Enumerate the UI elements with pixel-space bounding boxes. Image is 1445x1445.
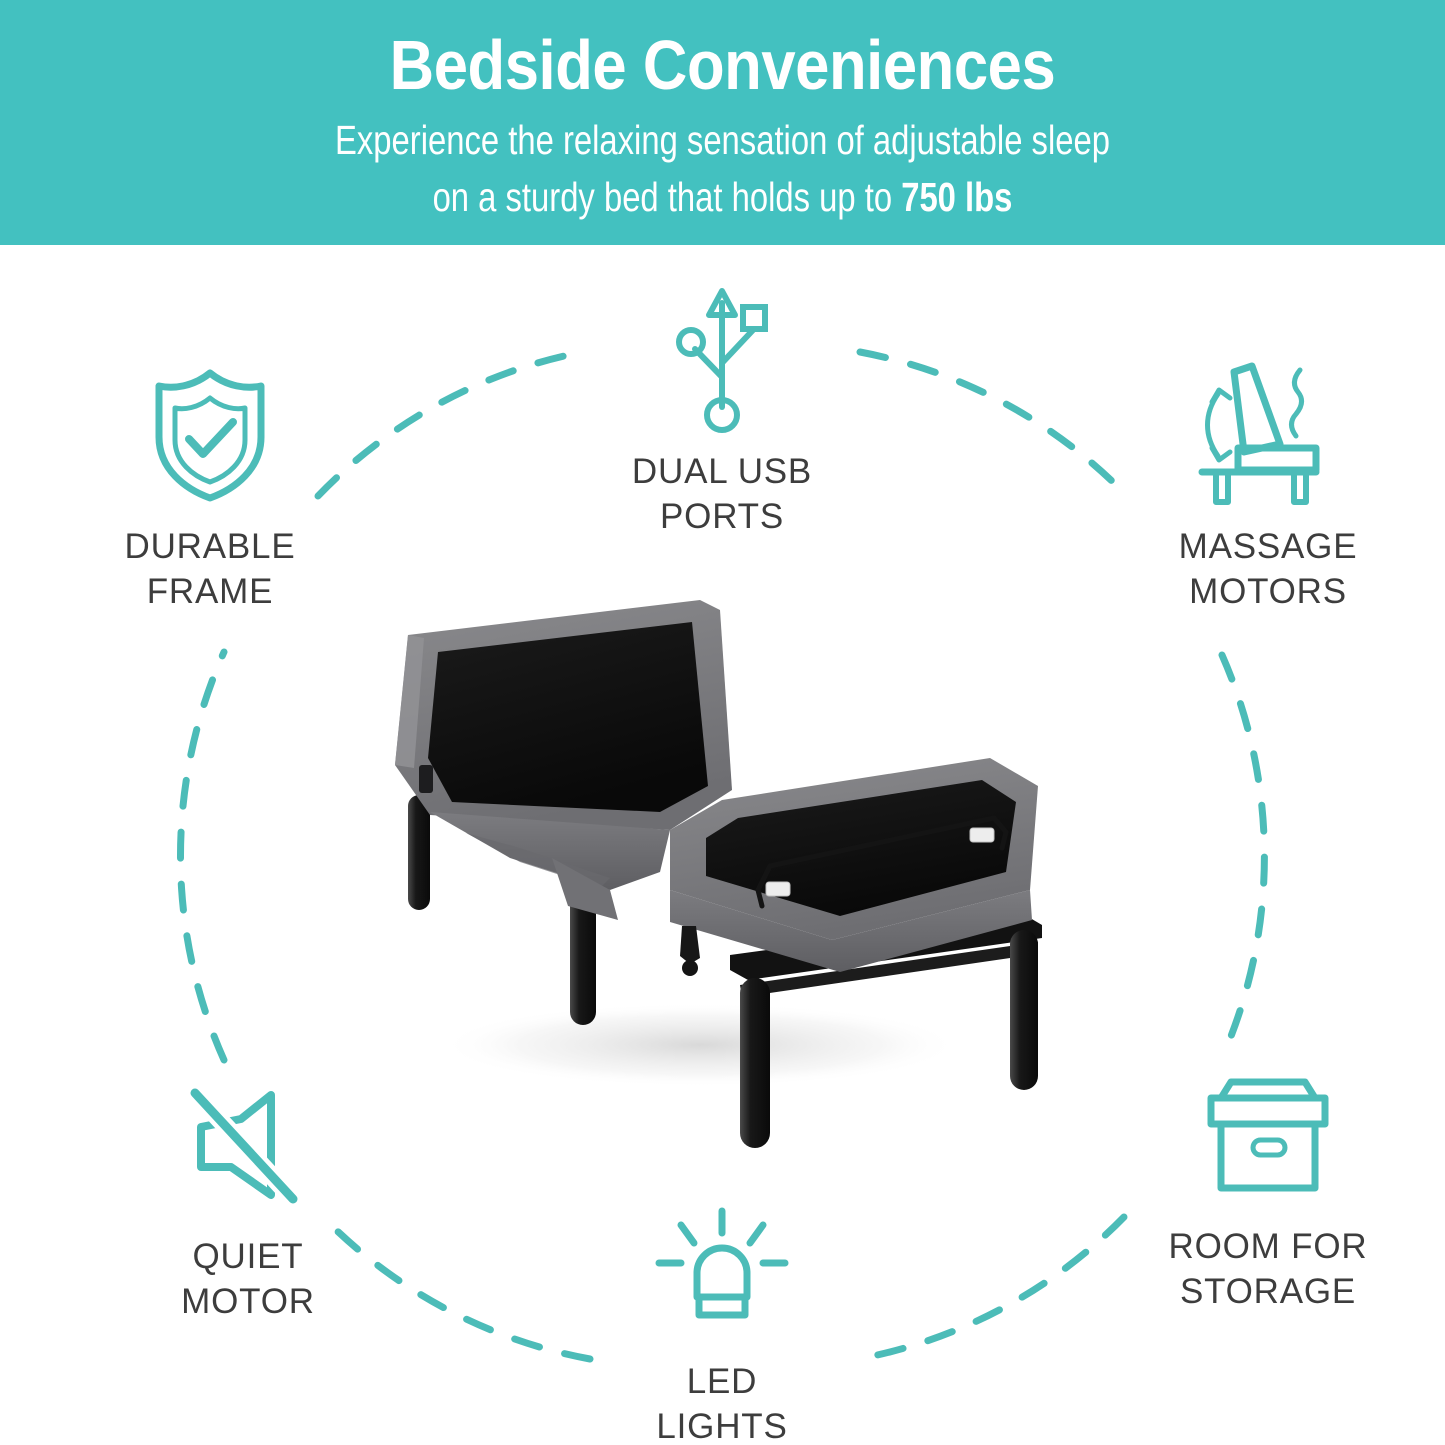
feature-room-for-storage[interactable]: ROOM FOR STORAGE (1118, 1060, 1418, 1314)
feature-label-massage-motors: MASSAGE MOTORS (1118, 524, 1418, 614)
feature-massage-motors[interactable]: MASSAGE MOTORS (1118, 360, 1418, 614)
bed-leg-rear-left (408, 795, 430, 910)
product-shadow (440, 1003, 960, 1087)
ring-arc-3 (1222, 655, 1264, 1058)
feature-dual-usb-ports[interactable]: DUAL USB PORTS (572, 285, 872, 539)
adjustable-bed-vibration-icon (1118, 360, 1418, 510)
subtitle-line-2-text: on a sturdy bed that holds up to (433, 174, 902, 220)
retainer-clip-right (970, 828, 994, 842)
feature-label-dual-usb-ports: DUAL USB PORTS (572, 449, 872, 539)
ring-arc-6 (180, 652, 224, 1060)
retainer-clip-left (766, 882, 790, 896)
shield-check-icon (60, 360, 360, 510)
feature-label-quiet-motor: QUIET MOTOR (98, 1234, 398, 1324)
product-image-adjustable-bed (370, 590, 1090, 1190)
storage-box-icon (1118, 1060, 1418, 1210)
subtitle-line-2: on a sturdy bed that holds up to 750 lbs (145, 169, 1301, 226)
feature-quiet-motor[interactable]: QUIET MOTOR (98, 1070, 398, 1324)
feature-label-durable-frame: DURABLE FRAME (60, 524, 360, 614)
header-subtitle: Experience the relaxing sensation of adj… (145, 112, 1301, 226)
feature-led-lights[interactable]: LED LIGHTS (572, 1195, 872, 1445)
muted-speaker-icon (98, 1070, 398, 1220)
bed-leg-front-left (740, 978, 770, 1148)
page-title: Bedside Conveniences (87, 24, 1359, 106)
infographic-root: Bedside Conveniences Experience the rela… (0, 0, 1445, 1445)
bed-actuator-bracket (680, 926, 700, 964)
bed-head-control-housing (419, 765, 433, 793)
bed-head-deck (428, 622, 708, 812)
subtitle-line-1: Experience the relaxing sensation of adj… (145, 112, 1301, 169)
ring-arc-4 (858, 1217, 1124, 1359)
bed-caster (682, 960, 698, 976)
feature-label-led-lights: LED LIGHTS (572, 1359, 872, 1445)
bed-leg-front-right (1010, 930, 1038, 1090)
header-banner: Bedside Conveniences Experience the rela… (0, 0, 1445, 245)
led-light-icon (572, 1195, 872, 1345)
feature-durable-frame[interactable]: DURABLE FRAME (60, 360, 360, 614)
weight-capacity-highlight: 750 lbs (901, 174, 1012, 220)
usb-icon (572, 285, 872, 435)
ring-arc-2 (860, 352, 1128, 497)
feature-label-room-for-storage: ROOM FOR STORAGE (1118, 1224, 1418, 1314)
